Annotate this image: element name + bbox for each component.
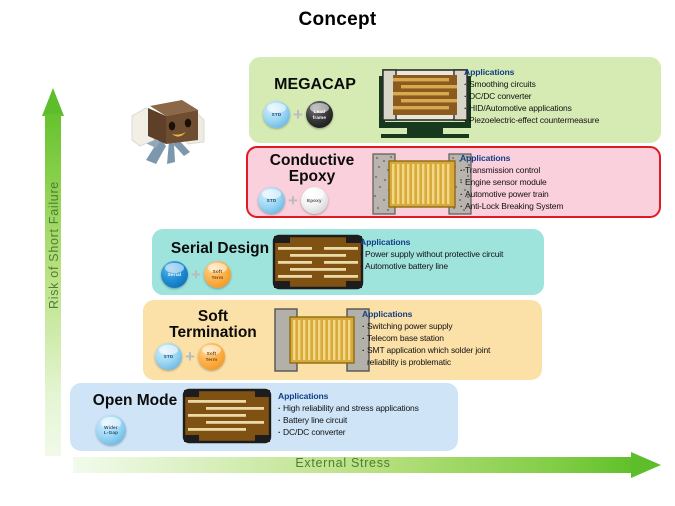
applications-list: High reliability and stress applications… — [278, 402, 458, 438]
badges-conductive-epoxy: STD + Epoxy — [258, 187, 328, 214]
plus-icon: + — [191, 266, 201, 283]
badge-lead-frame-label: Lead frame — [313, 109, 327, 120]
list-item: Automotive battery line — [360, 260, 544, 272]
badge-soft-term-label: Soft Term — [206, 351, 218, 362]
capacitor-illustration-epoxy — [372, 153, 472, 215]
capacitor-illustration-open-mode — [180, 387, 274, 445]
panel-title-serial-design: Serial Design — [160, 241, 280, 257]
plus-icon: + — [185, 348, 195, 365]
applications-list: Switching power supply Telecom base stat… — [362, 320, 542, 368]
applications-list: Smoothing circuits DC/DC converter HID/A… — [464, 78, 658, 126]
applications-megacap: Applications Smoothing circuits DC/DC co… — [464, 67, 658, 126]
panel-conductive-epoxy[interactable]: Conductive Epoxy STD + Epoxy — [246, 146, 661, 218]
badge-std-label: STD — [164, 354, 174, 359]
list-item: HID/Automotive applications — [464, 102, 658, 114]
applications-heading: Applications — [464, 67, 658, 77]
badge-std-label: STD — [267, 198, 277, 203]
badges-soft-termination: STD + Soft Term — [155, 343, 225, 370]
panel-serial-design[interactable]: Serial Design Serial + Soft Term — [152, 229, 544, 295]
capacitor-illustration-serial — [270, 233, 366, 291]
list-item: DC/DC converter — [464, 90, 658, 102]
panel-soft-termination[interactable]: Soft Termination STD + Soft Term — [143, 300, 542, 380]
applications-conductive-epoxy: Applications Transmission control Engine… — [460, 153, 656, 212]
badge-serial-label: Serial — [168, 272, 182, 277]
y-axis-label: Risk of Short Failure — [47, 145, 61, 345]
applications-list: Power supply without protective circuit … — [360, 248, 544, 272]
list-item: Transmission control — [460, 164, 656, 176]
panel-megacap[interactable]: MEGACAP STD + Lead frame — [249, 57, 661, 143]
badge-soft-term[interactable]: Soft Term — [204, 261, 231, 288]
y-axis-risk-arrow: Risk of Short Failure — [42, 88, 64, 456]
plus-icon: + — [288, 192, 298, 209]
panel-title-megacap: MEGACAP — [259, 77, 371, 94]
capacitor-character-mascot — [126, 86, 218, 170]
x-axis-label: External Stress — [73, 456, 613, 470]
badges-megacap: STD + Lead frame — [263, 101, 333, 128]
badge-epoxy[interactable]: Epoxy — [301, 187, 328, 214]
list-item: Battery line circuit — [278, 414, 458, 426]
badge-std[interactable]: STD — [263, 101, 290, 128]
list-item: SMT application which solder joint — [362, 344, 542, 356]
badge-std[interactable]: STD — [155, 343, 182, 370]
list-item: Anti-Lock Breaking System — [460, 200, 656, 212]
panel-title-soft-termination: Soft Termination — [149, 309, 277, 342]
badge-wider-l-gap[interactable]: Wider L-Gap — [96, 415, 126, 445]
list-item: High reliability and stress applications — [278, 402, 458, 414]
list-item: Automotive power train — [460, 188, 656, 200]
list-item: Engine sensor module — [460, 176, 656, 188]
badge-epoxy-label: Epoxy — [307, 198, 322, 203]
badge-std-label: STD — [272, 112, 282, 117]
applications-heading: Applications — [278, 391, 458, 401]
list-item: DC/DC converter — [278, 426, 458, 438]
list-item: Telecom base station — [362, 332, 542, 344]
badge-lead-frame[interactable]: Lead frame — [306, 101, 333, 128]
panel-title-open-mode: Open Mode — [78, 393, 192, 409]
right-arrow-icon — [631, 452, 661, 478]
badge-soft-term[interactable]: Soft Term — [198, 343, 225, 370]
panel-title-conductive-epoxy: Conductive Epoxy — [256, 153, 368, 186]
applications-heading: Applications — [360, 237, 544, 247]
badge-std[interactable]: STD — [258, 187, 285, 214]
list-item: Power supply without protective circuit — [360, 248, 544, 260]
badge-wider-l-gap-label: Wider L-Gap — [104, 425, 118, 436]
applications-heading: Applications — [460, 153, 656, 163]
plus-icon: + — [293, 106, 303, 123]
badges-open-mode: Wider L-Gap — [96, 415, 126, 445]
list-item: Smoothing circuits — [464, 78, 658, 90]
applications-heading: Applications — [362, 309, 542, 319]
badge-serial[interactable]: Serial — [161, 261, 188, 288]
x-axis-stress-arrow: External Stress — [73, 452, 661, 478]
applications-open-mode: Applications High reliability and stress… — [278, 391, 458, 438]
list-item-continuation: reliability is problematic — [362, 356, 542, 368]
up-arrow-icon — [42, 88, 64, 116]
applications-list: Transmission control Engine sensor modul… — [460, 164, 656, 212]
capacitor-illustration-soft-term — [274, 308, 370, 372]
capacitor-illustration-lead-frame — [373, 66, 477, 138]
badges-serial-design: Serial + Soft Term — [161, 261, 231, 288]
applications-soft-termination: Applications Switching power supply Tele… — [362, 309, 542, 368]
page-title: Concept — [0, 9, 675, 31]
list-item: Switching power supply — [362, 320, 542, 332]
applications-serial-design: Applications Power supply without protec… — [360, 237, 544, 272]
list-item: Piezoelectric-effect countermeasure — [464, 114, 658, 126]
panel-open-mode[interactable]: Open Mode Wider L-Gap Applications High … — [70, 383, 458, 451]
badge-soft-term-label: Soft Term — [212, 269, 224, 280]
